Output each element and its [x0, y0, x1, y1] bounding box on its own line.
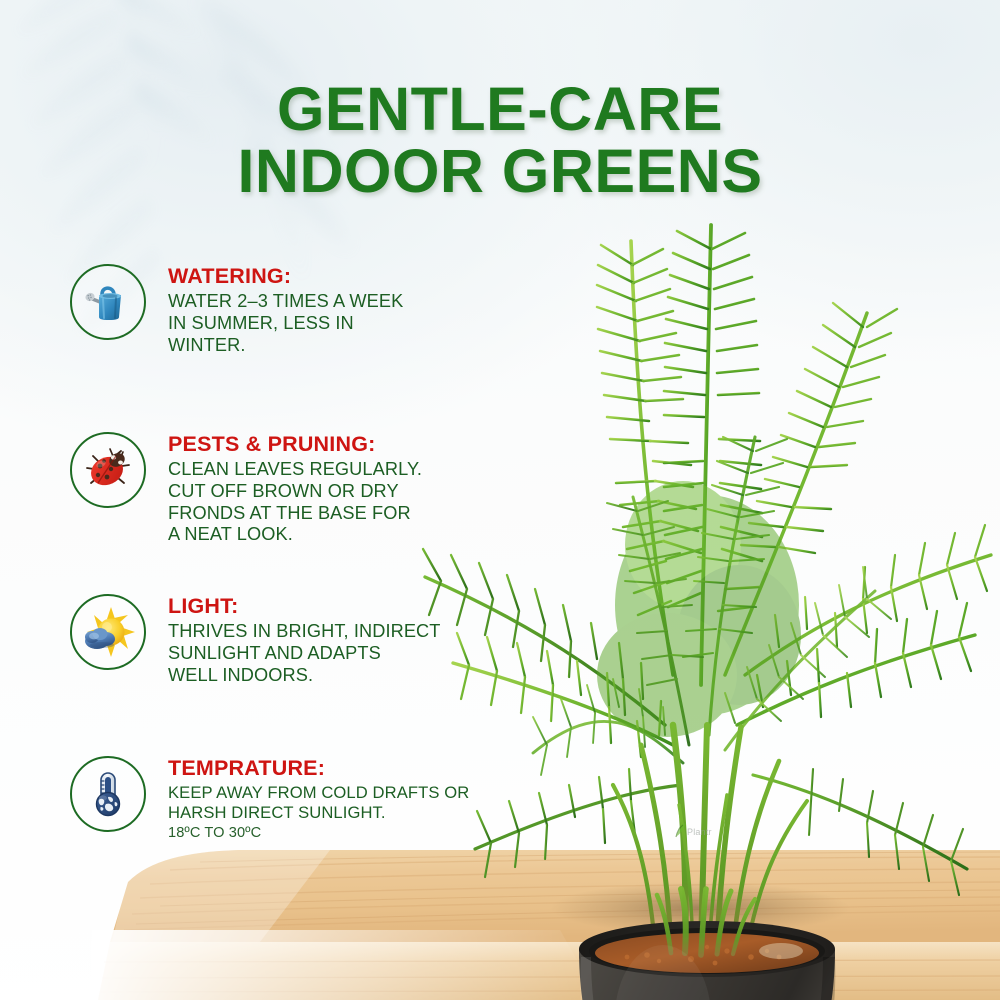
pot-logo-text: Plantr — [687, 827, 712, 837]
title-line-1: GENTLE-CARE — [0, 78, 1000, 140]
care-temperature-range: 18ºC TO 30ºC — [168, 825, 504, 841]
care-body: CLEAN LEAVES REGULARLY. CUT OFF BROWN OR… — [168, 459, 504, 546]
title-line-2: INDOOR GREENS — [0, 140, 1000, 202]
care-heading: PESTS & PRUNING: — [168, 432, 504, 457]
page-title: GENTLE-CARE INDOOR GREENS — [0, 78, 1000, 202]
ladybug-icon — [70, 432, 146, 508]
infographic-canvas: GENTLE-CARE INDOOR GREENS — [0, 0, 1000, 1000]
care-item-temperature: TEMPRATURE: KEEP AWAY FROM COLD DRAFTS O… — [64, 754, 504, 841]
care-heading: TEMPRATURE: — [168, 756, 504, 781]
care-item-pests-pruning: PESTS & PRUNING: CLEAN LEAVES REGULARLY.… — [64, 430, 504, 546]
pot-brand-logo: Plantr — [667, 820, 721, 842]
care-body: THRIVES IN BRIGHT, INDIRECT SUNLIGHT AND… — [168, 621, 504, 686]
thermometer-globe-icon — [70, 756, 146, 832]
care-item-light: LIGHT: THRIVES IN BRIGHT, INDIRECT SUNLI… — [64, 592, 504, 686]
care-heading: LIGHT: — [168, 594, 504, 619]
care-body: KEEP AWAY FROM COLD DRAFTS OR HARSH DIRE… — [168, 783, 504, 822]
care-body: WATER 2–3 TIMES A WEEK IN SUMMER, LESS I… — [168, 291, 504, 356]
care-item-watering: WATERING: WATER 2–3 TIMES A WEEK IN SUMM… — [64, 262, 504, 356]
care-heading: WATERING: — [168, 264, 504, 289]
watering-can-icon — [70, 264, 146, 340]
sun-behind-cloud-icon — [70, 594, 146, 670]
